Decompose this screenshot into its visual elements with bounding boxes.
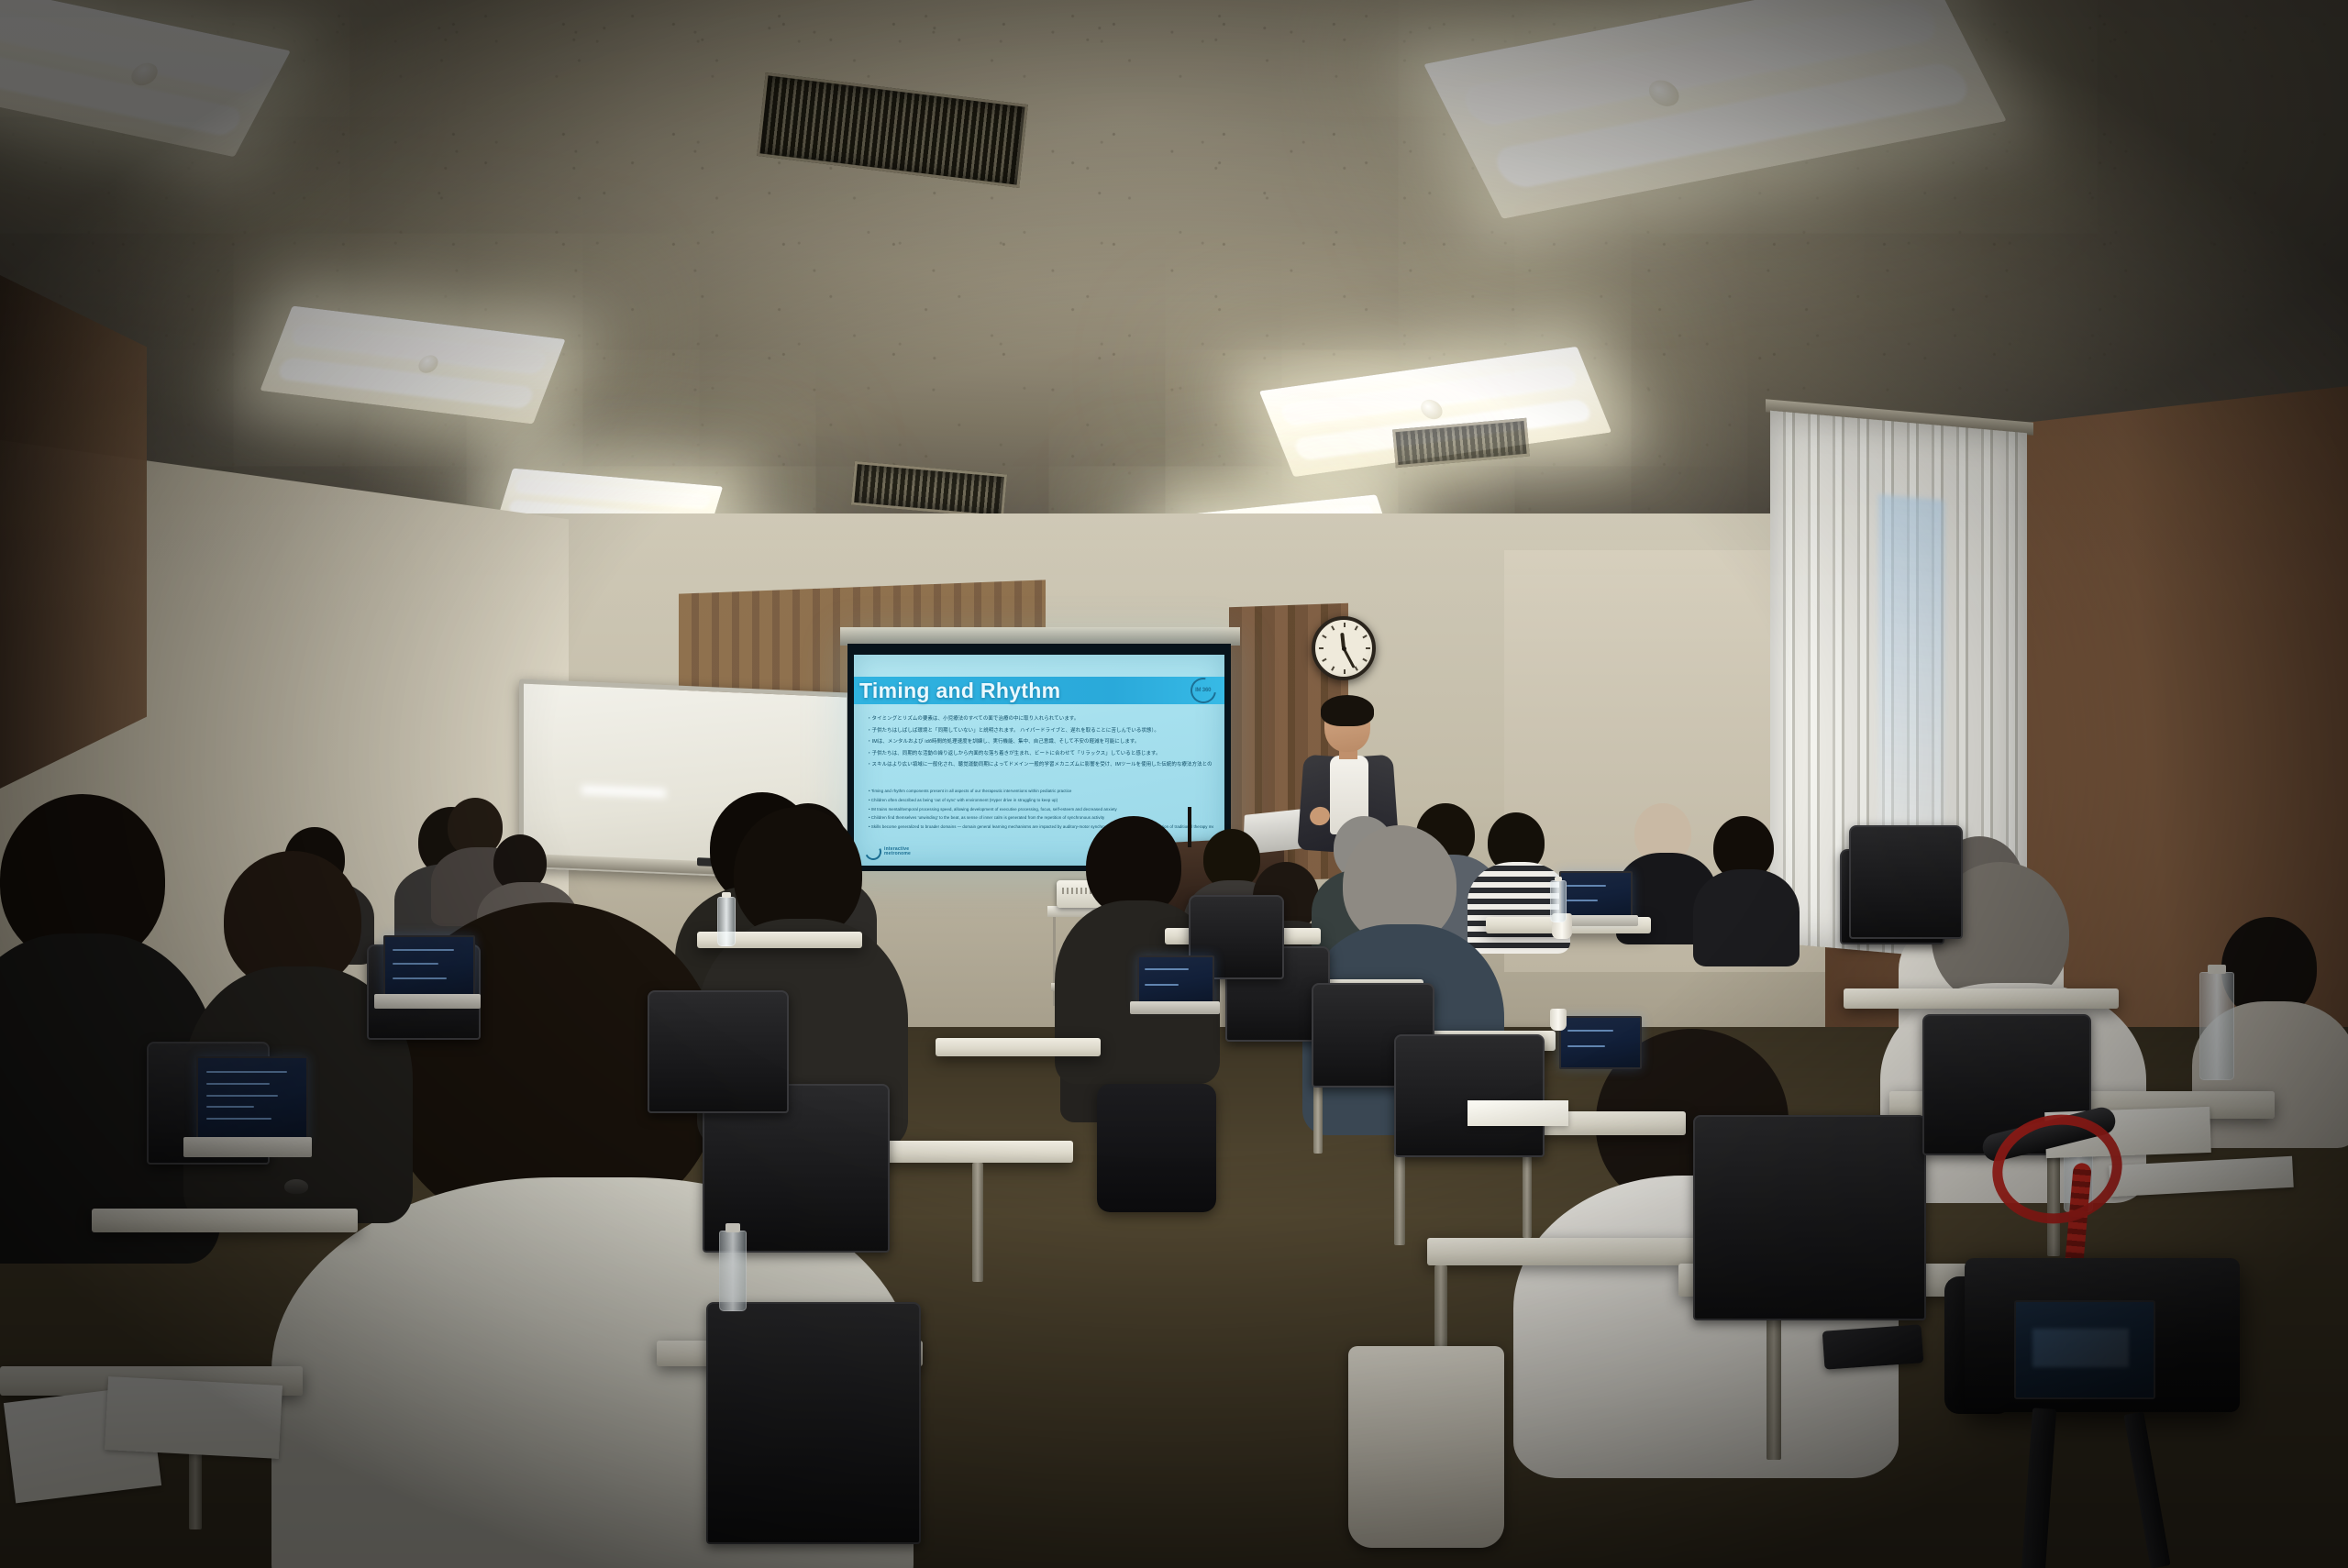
slide-title-bar: Timing and Rhythm [854, 677, 1224, 704]
jp-bullet: 子供たちは、同期的な活動の繰り返しから内面的な落ち着きが生まれ、ビートに合わせて… [867, 750, 1212, 757]
en-bullet: IM trains mental/temporal processing spe… [869, 807, 1213, 812]
water-bottle[interactable] [719, 1231, 747, 1311]
clock-center-pin [1342, 646, 1346, 651]
slide-japanese-bullets: タイミングとリズムの要素は、小児療法のすべての面で治療の中に取り入れられています… [867, 715, 1212, 773]
desk [92, 1209, 358, 1232]
laptop-screen[interactable] [1559, 1016, 1642, 1069]
en-bullet: Timing and rhythm components present in … [869, 789, 1213, 794]
chair[interactable] [648, 990, 789, 1113]
chair[interactable] [1394, 1034, 1545, 1157]
water-bottle[interactable] [1550, 880, 1567, 922]
left-wall-wood-column [0, 275, 147, 789]
presenter-hair [1321, 695, 1374, 726]
desk [936, 1038, 1101, 1056]
desk [1844, 988, 2119, 1009]
water-bottle[interactable] [717, 897, 736, 946]
desk [862, 1141, 1073, 1163]
desk-leg [972, 1163, 983, 1282]
laptop-base[interactable] [374, 994, 481, 1009]
seminar-room-photo: Timing and Rhythm IM 360 タイミングとリズムの要素は、小… [0, 0, 2348, 1568]
bottle-cap [722, 892, 731, 898]
laptop-base[interactable] [183, 1137, 312, 1157]
bottle-cap [2208, 965, 2226, 974]
laptop-screen[interactable] [196, 1056, 308, 1143]
audience-person [1693, 816, 1800, 954]
wall-clock [1312, 616, 1376, 680]
water-bottle[interactable] [2199, 972, 2234, 1080]
jp-bullet: IMは、メンタルおよび idő時間的処理速度を訓練し、実行機能、集中、自己意識、… [867, 738, 1212, 745]
chair[interactable] [706, 1302, 921, 1544]
laptop-base[interactable] [1130, 1001, 1220, 1014]
desk [1427, 1238, 1730, 1265]
slide-title: Timing and Rhythm [859, 679, 1060, 703]
laptop-screen[interactable] [383, 935, 475, 999]
coffee-cup[interactable] [1550, 1009, 1567, 1031]
paper-sheet[interactable] [1467, 1100, 1568, 1126]
paper-sheet[interactable] [105, 1376, 282, 1459]
camera-lcd-screen[interactable] [2014, 1300, 2155, 1399]
smartphone[interactable] [1822, 1324, 1924, 1369]
jp-bullet: タイミングとリズムの要素は、小児療法のすべての面で治療の中に取り入れられています… [867, 715, 1212, 723]
jp-bullet: スキルはより広い領域に一般化され、聴覚運動同期によってドメイン一般的学習メカニズ… [867, 761, 1212, 768]
bottle-cap [1555, 877, 1563, 881]
clock-minute-hand [1343, 647, 1356, 668]
mouse[interactable] [284, 1179, 308, 1194]
torso [1693, 869, 1800, 966]
backpack[interactable] [1097, 1084, 1216, 1212]
jp-bullet: 子供たちはしばしば環境と「同期していない」と説明されます。 ハイパードライブと、… [867, 727, 1212, 734]
projection-screen-roller [840, 627, 1240, 646]
bottle-cap [725, 1223, 740, 1232]
im360-logo-icon: IM 360 [1188, 677, 1219, 704]
en-bullet: Children often described as being 'out o… [869, 798, 1213, 803]
tote-bag[interactable] [1348, 1346, 1504, 1548]
laptop-screen[interactable] [1137, 955, 1214, 1007]
im360-logo-text: IM 360 [1195, 688, 1211, 693]
chair[interactable] [1849, 825, 1963, 939]
chair[interactable] [1693, 1115, 1926, 1320]
